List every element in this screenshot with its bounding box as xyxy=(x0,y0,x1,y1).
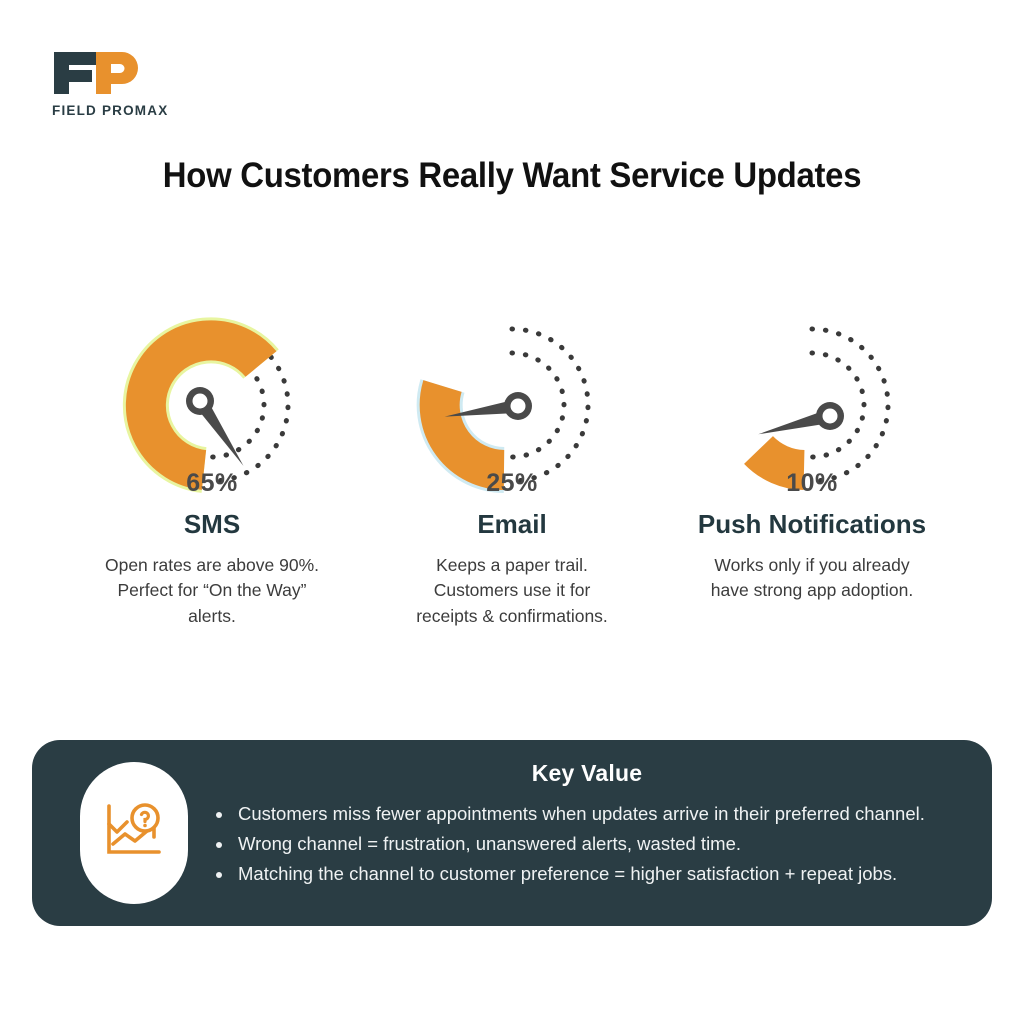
gauge-description-email: Keeps a paper trail. Customers use it fo… xyxy=(402,553,622,629)
list-item: Matching the channel to customer prefere… xyxy=(234,859,966,889)
key-value-bullet-list: Customers miss fewer appointments when u… xyxy=(208,799,966,889)
key-value-title: Key Value xyxy=(208,760,966,787)
brand-name: FIELD PROMAX xyxy=(52,103,242,118)
fp-monogram-icon xyxy=(52,48,140,96)
gauge-label-push-notifications: Push Notifications xyxy=(698,509,926,540)
gauge-row: 65% SMS Open rates are above 90%. Perfec… xyxy=(0,288,1024,629)
chart-growth-question-icon xyxy=(103,802,165,865)
list-item: Wrong channel = frustration, unanswered … xyxy=(234,829,966,859)
gauge-card-push-notifications: 10% Push Notifications Works only if you… xyxy=(662,288,962,604)
gauge-value-sms: 65% xyxy=(186,469,238,498)
brand-logo: FIELD PROMAX xyxy=(52,48,242,118)
gauge-description-push-notifications: Works only if you already have strong ap… xyxy=(705,553,920,604)
gauge-value-push-notifications: 10% xyxy=(786,469,838,498)
gauge-card-email: 25% Email Keeps a paper trail. Customers… xyxy=(362,288,662,629)
gauge-label-email: Email xyxy=(477,509,546,540)
key-value-icon-badge xyxy=(80,762,188,904)
gauge-card-sms: 65% SMS Open rates are above 90%. Perfec… xyxy=(62,288,362,629)
page-title: How Customers Really Want Service Update… xyxy=(31,156,994,196)
gauge-label-sms: SMS xyxy=(184,509,240,540)
key-value-content: Key Value Customers miss fewer appointme… xyxy=(208,760,966,889)
key-value-panel: Key Value Customers miss fewer appointme… xyxy=(32,740,992,926)
gauge-description-sms: Open rates are above 90%. Perfect for “O… xyxy=(102,553,322,629)
gauge-value-email: 25% xyxy=(486,469,538,498)
list-item: Customers miss fewer appointments when u… xyxy=(234,799,966,829)
